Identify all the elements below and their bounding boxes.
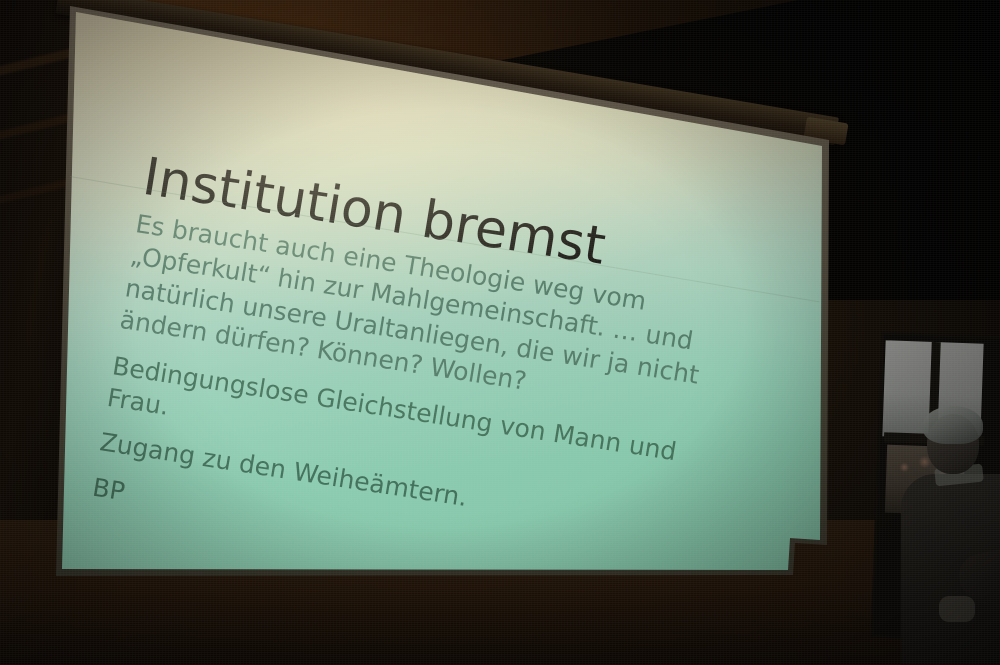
window-outside-foliage <box>889 451 961 511</box>
window-pane-lower <box>885 445 965 516</box>
presentation-room-scene: Institution bremst Es braucht auch eine … <box>0 0 1000 665</box>
